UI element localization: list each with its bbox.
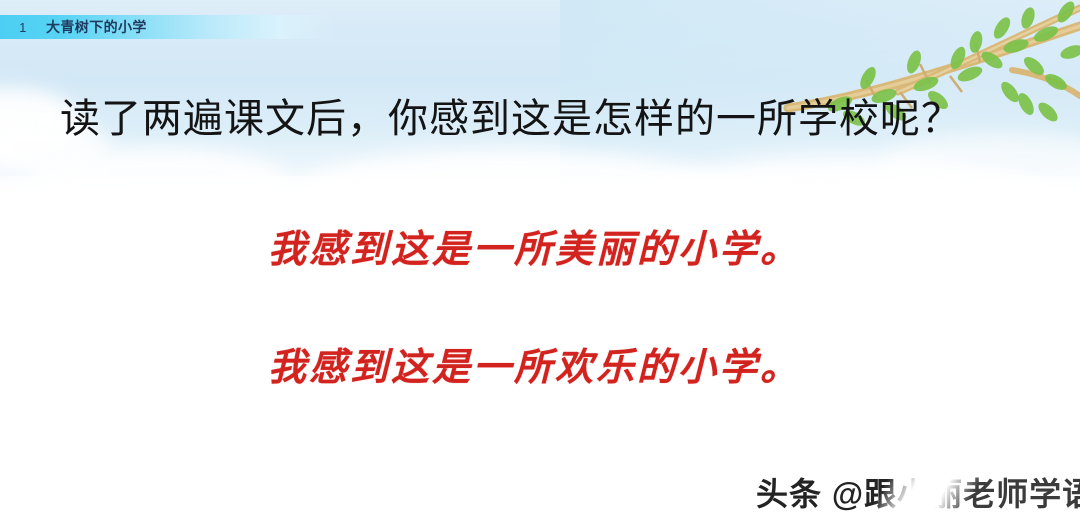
answers-block: 我感到这是一所美丽的小学。 我感到这是一所欢乐的小学。 [268,226,1028,390]
question-text: 读了两遍课文后，你感到这是怎样的一所学校呢？ [60,92,1020,146]
answer-line: 我感到这是一所欢乐的小学。 [268,344,1028,390]
lesson-number: 1 [0,20,46,35]
chapter-header[interactable]: 1 大青树下的小学 [0,15,336,39]
slide-canvas: 1 大青树下的小学 读了两遍课文后，你感到这是怎样的一所学校呢？ 我感到这是一所… [0,0,1080,526]
answer-line: 我感到这是一所美丽的小学。 [268,226,1028,272]
lesson-title: 大青树下的小学 [46,17,147,37]
watermark: 头条 @跟小丽老师学语文 [756,474,1080,514]
